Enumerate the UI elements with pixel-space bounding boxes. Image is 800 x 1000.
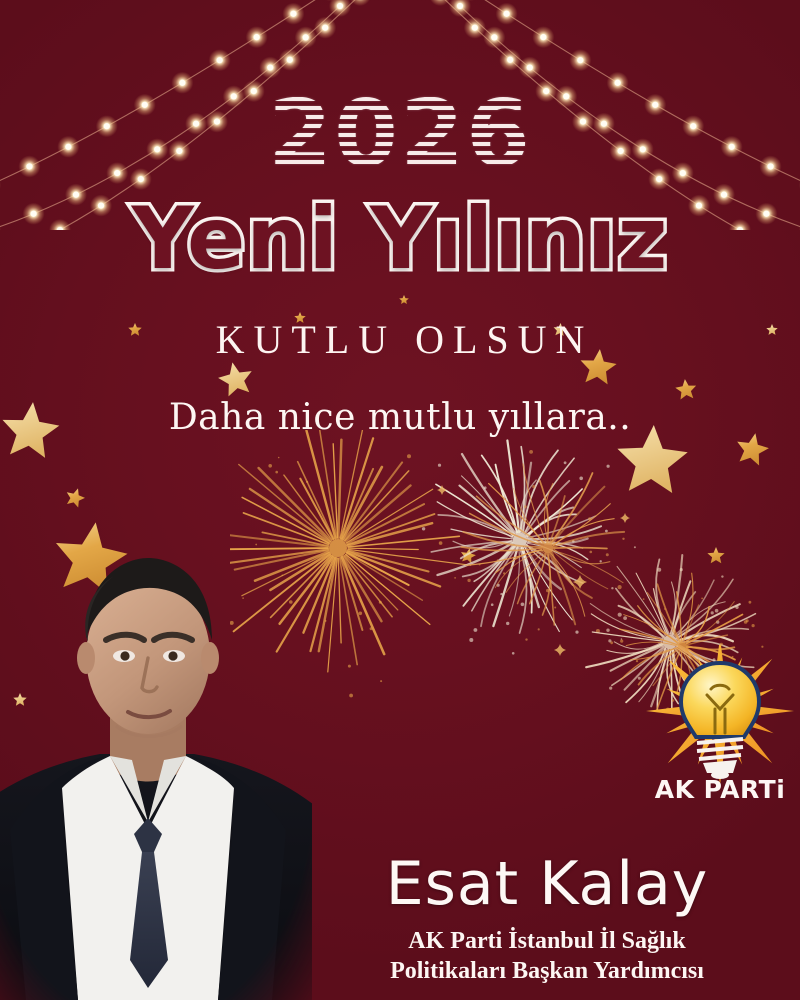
kicker-container: KUTLU OLSUN [0, 316, 800, 363]
year-heading: 2026 [268, 88, 532, 180]
kicker-text: KUTLU OLSUN [0, 316, 800, 363]
lightbulb-icon [645, 645, 795, 795]
ak-parti-logo-label: AK PARTi [645, 775, 795, 804]
person-name: Esat Kalay [312, 854, 782, 914]
subline-container: Daha nice mutlu yıllara.. [0, 397, 800, 438]
person-title: AK Parti İstanbul İl Sağlık Politikaları… [312, 926, 782, 986]
subline-text: Daha nice mutlu yıllara.. [0, 397, 800, 438]
person-title-line-2: Politikaları Başkan Yardımcısı [312, 956, 782, 986]
headline-container: Yeni Yılınız [0, 196, 800, 282]
person-title-line-1: AK Parti İstanbul İl Sağlık [312, 926, 782, 956]
new-year-greeting-poster: 2026 Yeni Yılınız KUTLU OLSUN Daha nice … [0, 0, 800, 1000]
headline-text: Yeni Yılınız [132, 196, 669, 282]
year-heading-container: 2026 [0, 88, 800, 180]
person-portrait [0, 530, 312, 1000]
ak-parti-logo: AK PARTi [645, 645, 795, 820]
person-name-block: Esat Kalay AK Parti İstanbul İl Sağlık P… [312, 854, 782, 986]
